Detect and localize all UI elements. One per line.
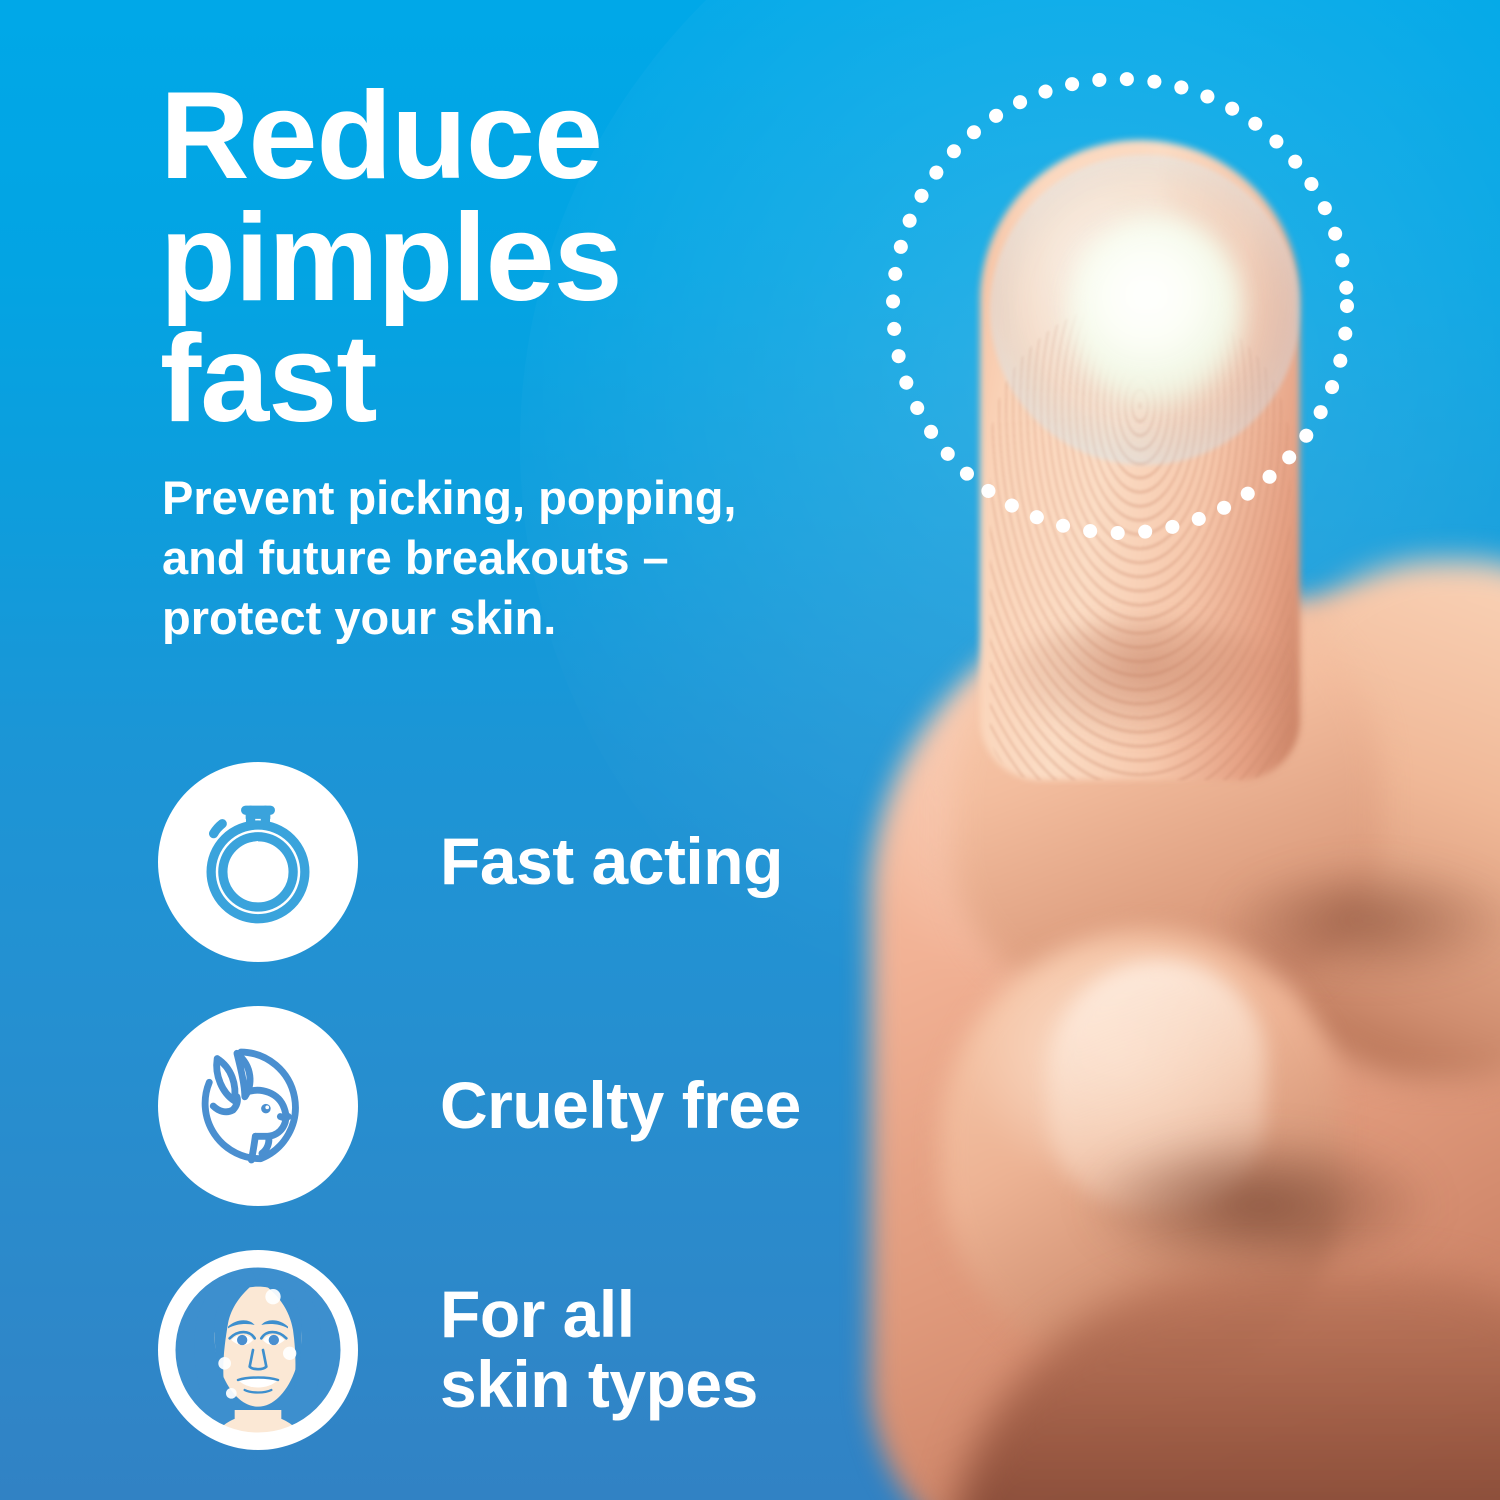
finger-crease-lower bbox=[1080, 1130, 1440, 1280]
patch-gel-core bbox=[1068, 215, 1243, 405]
feature-label: Fast acting bbox=[440, 827, 783, 897]
stopwatch-icon bbox=[184, 788, 332, 936]
finger-fold bbox=[1000, 620, 1290, 740]
feature-badge bbox=[158, 762, 358, 962]
feature-label: Cruelty free bbox=[440, 1071, 801, 1141]
promo-image: Reduce pimples fast Prevent picking, pop… bbox=[0, 0, 1500, 1500]
rabbit-icon bbox=[179, 1027, 337, 1185]
page-title: Reduce pimples fast bbox=[160, 76, 900, 441]
feature-badge bbox=[158, 1006, 358, 1206]
page-subtitle: Prevent picking, popping, and future bre… bbox=[162, 468, 922, 648]
feature-item-all-skin-types: For all skin types bbox=[158, 1250, 978, 1450]
face-icon bbox=[158, 1250, 358, 1450]
feature-item-fast-acting: Fast acting bbox=[158, 762, 978, 962]
feature-badge bbox=[158, 1250, 358, 1450]
feature-label: For all skin types bbox=[440, 1280, 758, 1420]
finger-crease-upper bbox=[1220, 860, 1500, 980]
feature-item-cruelty-free: Cruelty free bbox=[158, 1006, 978, 1206]
feature-list: Fast acting bbox=[158, 762, 978, 1494]
